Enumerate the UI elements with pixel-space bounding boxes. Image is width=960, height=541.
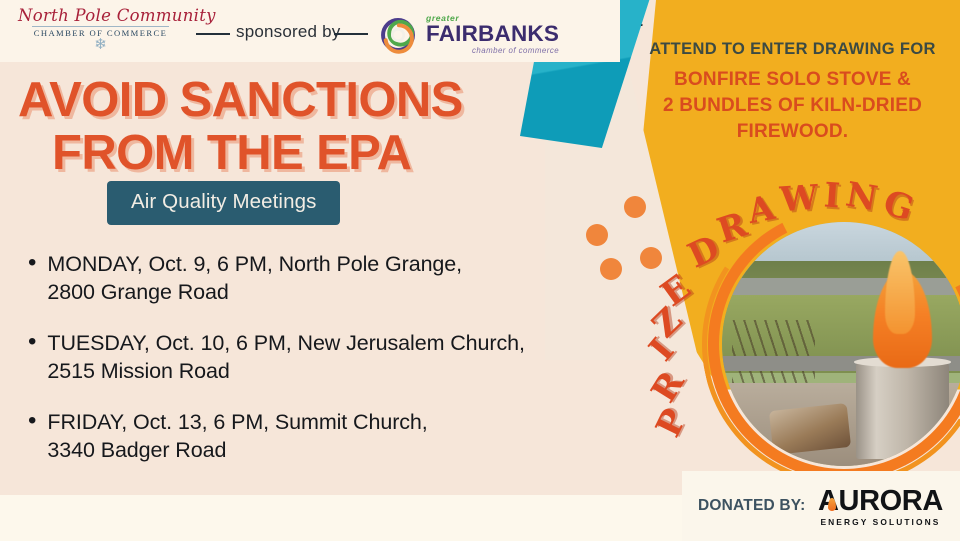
- decorative-dot: [624, 196, 646, 218]
- donated-by-label: DONATED BY:: [698, 497, 806, 515]
- meeting-text: FRIDAY, Oct. 13, 6 PM, Summit Church, 33…: [47, 408, 427, 464]
- headline-line-1: AVOID SANCTIONS: [18, 74, 463, 127]
- prize-line-2: 2 BUNDLES OF KILN-DRIED: [663, 95, 922, 116]
- flame-icon: [828, 498, 836, 511]
- headline-line-2: FROM THE EPA: [52, 127, 463, 180]
- fairbanks-tagline: chamber of commerce: [426, 46, 559, 55]
- fairbanks-swirl-icon: [376, 13, 420, 57]
- decorative-dot: [586, 224, 608, 246]
- meeting-line-2: 3340 Badger Road: [47, 438, 226, 462]
- meeting-line-1: FRIDAY, Oct. 13, 6 PM, Summit Church,: [47, 410, 427, 434]
- fairbanks-wordmark: greater FAIRBANKS chamber of commerce: [426, 13, 559, 55]
- arc-letter: P: [648, 403, 695, 444]
- meeting-line-1: MONDAY, Oct. 9, 6 PM, North Pole Grange,: [47, 252, 462, 276]
- bullet-icon: •: [28, 406, 36, 464]
- sponsored-by-label: sponsored by: [236, 22, 340, 42]
- meetings-list: • MONDAY, Oct. 9, 6 PM, North Pole Grang…: [28, 250, 648, 487]
- aurora-wordmark: AURORA: [818, 486, 943, 516]
- aurora-tagline: ENERGY SOLUTIONS: [818, 517, 943, 527]
- snowflake-icon: ❄: [18, 38, 183, 51]
- meeting-line-2: 2800 Grange Road: [47, 280, 228, 304]
- bullet-icon: •: [28, 248, 36, 306]
- list-item: • MONDAY, Oct. 9, 6 PM, North Pole Grang…: [28, 250, 648, 306]
- air-quality-meetings-badge: Air Quality Meetings: [107, 181, 340, 225]
- arc-letter: R: [644, 364, 693, 409]
- flyer-canvas: North Pole Community CHAMBER OF COMMERCE…: [0, 0, 960, 541]
- meeting-line-1: TUESDAY, Oct. 10, 6 PM, New Jerusalem Ch…: [47, 331, 524, 355]
- np-logo-script: North Pole Community: [18, 6, 183, 25]
- fairbanks-name: FAIRBANKS: [426, 23, 559, 45]
- meeting-text: MONDAY, Oct. 9, 6 PM, North Pole Grange,…: [47, 250, 462, 306]
- sponsor-rule-left: [196, 33, 230, 35]
- meeting-line-2: 2515 Mission Road: [47, 359, 229, 383]
- prize-line-1: BONFIRE SOLO STOVE &: [674, 69, 911, 90]
- meeting-text: TUESDAY, Oct. 10, 6 PM, New Jerusalem Ch…: [47, 329, 524, 385]
- sponsor-rule-right: [334, 33, 368, 35]
- list-item: • FRIDAY, Oct. 13, 6 PM, Summit Church, …: [28, 408, 648, 464]
- prize-description: BONFIRE SOLO STOVE & 2 BUNDLES OF KILN-D…: [630, 67, 955, 145]
- donated-by-panel: DONATED BY: AURORA ENERGY SOLUTIONS: [682, 471, 960, 541]
- prize-announcement: ATTEND TO ENTER DRAWING FOR BONFIRE SOLO…: [630, 40, 955, 145]
- prize-photo-block: [722, 222, 960, 466]
- prize-line-3: FIREWOOD.: [737, 121, 849, 142]
- main-headline: AVOID SANCTIONS FROM THE EPA: [18, 74, 463, 180]
- attend-to-enter-label: ATTEND TO ENTER DRAWING FOR: [630, 40, 955, 59]
- list-item: • TUESDAY, Oct. 10, 6 PM, New Jerusalem …: [28, 329, 648, 385]
- north-pole-chamber-logo: North Pole Community CHAMBER OF COMMERCE…: [18, 6, 183, 60]
- aurora-logo: AURORA ENERGY SOLUTIONS: [818, 486, 943, 527]
- bullet-icon: •: [28, 327, 36, 385]
